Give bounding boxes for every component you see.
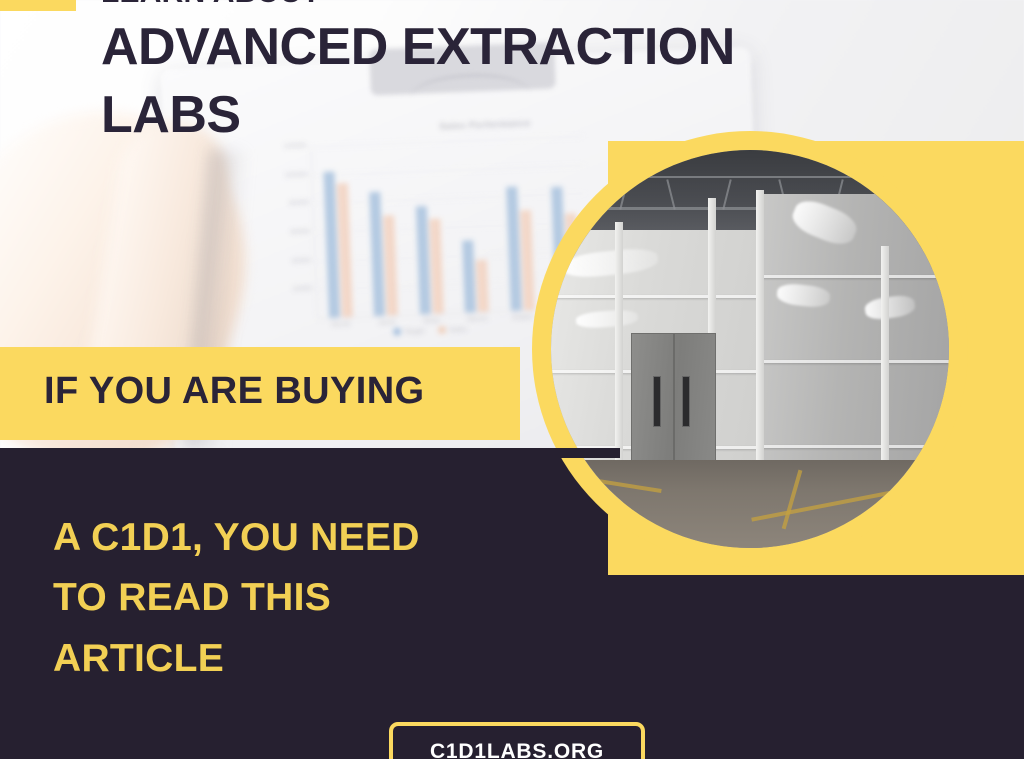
chart-bar-group: Nicole bbox=[322, 145, 353, 318]
chart-ytick: 100000 bbox=[284, 171, 308, 179]
chart-ytick: 40000 bbox=[291, 257, 311, 265]
circle-photo-frame bbox=[532, 131, 968, 567]
chart-bar bbox=[383, 215, 398, 315]
chart-xtick: Brian bbox=[424, 318, 441, 326]
subheadline-line-3: ARTICLE bbox=[53, 629, 420, 689]
chart-bar bbox=[506, 187, 522, 311]
dark-panel-edge bbox=[0, 448, 620, 458]
poster-canvas: Sales Performance 120000 100000 80000 60… bbox=[0, 0, 1024, 759]
extraction-booth-photo bbox=[551, 150, 949, 548]
chart-bar bbox=[520, 210, 535, 310]
chart-bar-group: Steven bbox=[459, 140, 490, 313]
buying-banner: IF YOU ARE BUYING bbox=[0, 347, 520, 440]
website-url-button[interactable]: C1D1LABS.ORG bbox=[389, 722, 645, 759]
chart-ytick: 60000 bbox=[290, 229, 310, 237]
chart-bar bbox=[476, 260, 489, 312]
headline-line-1: ADVANCED EXTRACTION bbox=[101, 21, 735, 73]
chart-xtick: Robert bbox=[512, 314, 533, 322]
chart-ytick: 120000 bbox=[283, 143, 307, 151]
chart-xtick: Jared bbox=[378, 319, 396, 327]
chart-bar-group: Jared bbox=[368, 143, 399, 316]
headline-kicker: LEARN ABOUT bbox=[101, 0, 735, 8]
chart-ytick: 20000 bbox=[292, 286, 312, 294]
top-yellow-tab bbox=[0, 0, 76, 11]
headline-group: LEARN ABOUT ADVANCED EXTRACTION LABS bbox=[101, 0, 735, 141]
chart-ytick: 80000 bbox=[289, 200, 309, 208]
chart-xtick: Steven bbox=[466, 316, 488, 324]
chart-bar bbox=[369, 192, 385, 316]
chart-bar-group: Robert bbox=[504, 138, 535, 311]
chart-legend-label: Target bbox=[404, 326, 425, 336]
subheadline-line-1: A C1D1, YOU NEED bbox=[53, 508, 420, 568]
warehouse-floor bbox=[551, 460, 949, 548]
subheadline-line-2: TO READ THIS bbox=[53, 568, 420, 628]
chart-bar bbox=[462, 240, 476, 313]
website-url-label: C1D1LABS.ORG bbox=[430, 740, 604, 759]
chart-bar bbox=[337, 183, 353, 317]
chart-bar-group: Brian bbox=[413, 142, 444, 315]
chart-bar bbox=[429, 219, 444, 314]
subheadline-group: A C1D1, YOU NEED TO READ THIS ARTICLE bbox=[53, 508, 420, 689]
chart-legend-label: Sales bbox=[448, 325, 467, 335]
banner-text: IF YOU ARE BUYING bbox=[44, 370, 425, 413]
booth-wall-side bbox=[758, 194, 949, 496]
headline-line-2: LABS bbox=[101, 89, 735, 141]
chart-xtick: Nicole bbox=[331, 321, 351, 329]
